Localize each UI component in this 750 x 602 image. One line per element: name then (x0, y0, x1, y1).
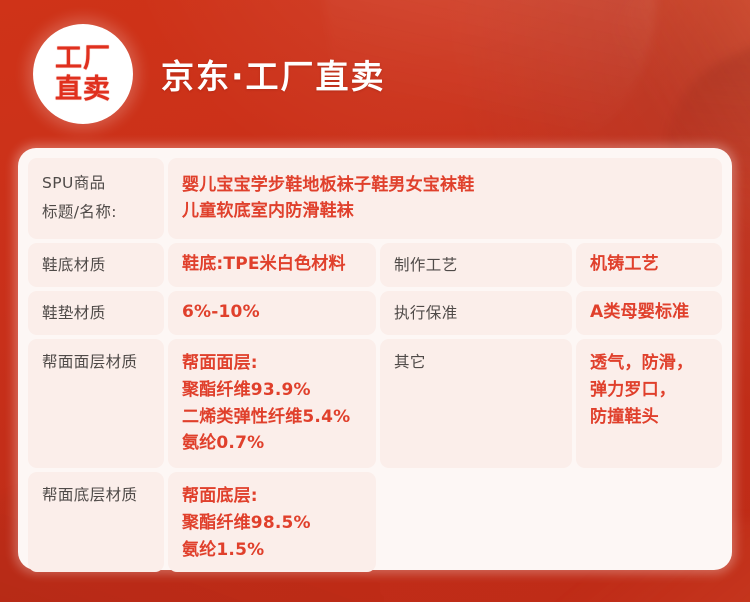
product-spec-card: SPU商品 标题/名称: 婴儿宝宝学步鞋地板袜子鞋男女宝袜鞋 儿童软底室内防滑鞋… (18, 148, 732, 570)
spec-label-upper-bottom-material-text: 帮面底层材质 (42, 483, 150, 507)
spec-row-upper-bottom-material: 帮面底层材质 帮面底层: 聚酯纤维98.5% 氨纶1.5% (28, 472, 722, 572)
spec-value-others: 透气，防滑， 弹力罗口， 防撞鞋头 (576, 339, 722, 468)
spec-value-sole-material-text: 鞋底:TPE米白色材料 (182, 251, 362, 278)
spec-value-insole-material-text: 6%-10% (182, 299, 362, 326)
spec-label-spu-title-line2: 标题/名称: (42, 198, 150, 227)
spec-label-production-craft-text: 制作工艺 (394, 253, 558, 277)
page-root: 工厂 直卖 京东·工厂直卖 SPU商品 标题/名称: 婴儿宝宝学步鞋地板袜子鞋男… (0, 0, 750, 602)
spec-value-upper-face-line1: 帮面面层: (182, 350, 362, 377)
spec-value-production-craft-text: 机铸工艺 (590, 251, 708, 278)
factory-direct-sale-logo: 工厂 直卖 (33, 24, 133, 124)
spec-row-spu-title: SPU商品 标题/名称: 婴儿宝宝学步鞋地板袜子鞋男女宝袜鞋 儿童软底室内防滑鞋… (28, 158, 722, 239)
spec-value-upper-face-line2: 聚酯纤维93.9% (182, 377, 362, 404)
spec-value-production-craft: 机铸工艺 (576, 243, 722, 287)
spec-label-insole-material-text: 鞋垫材质 (42, 301, 150, 325)
spec-value-upper-face-line4: 氨纶0.7% (182, 430, 362, 457)
spec-value-insole-material: 6%-10% (168, 291, 376, 335)
spec-label-upper-bottom-material: 帮面底层材质 (28, 472, 164, 572)
spec-label-production-craft: 制作工艺 (380, 243, 572, 287)
spec-label-others: 其它 (380, 339, 572, 468)
banner-header: 工厂 直卖 京东·工厂直卖 (0, 0, 750, 148)
spec-row-upper-face-material: 帮面面层材质 帮面面层: 聚酯纤维93.9% 二烯类弹性纤维5.4% 氨纶0.7… (28, 339, 722, 468)
spec-value-others-line3: 防撞鞋头 (590, 404, 708, 431)
spec-label-execution-standard-text: 执行保准 (394, 301, 558, 325)
spec-value-spu-title-line1: 婴儿宝宝学步鞋地板袜子鞋男女宝袜鞋 (182, 172, 708, 199)
spec-label-spu-title-line1: SPU商品 (42, 169, 150, 198)
spec-value-others-line2: 弹力罗口， (590, 377, 708, 404)
brand-title: 京东·工厂直卖 (161, 50, 386, 98)
spec-label-upper-face-material: 帮面面层材质 (28, 339, 164, 468)
logo-line-one: 工厂 (55, 45, 111, 72)
logo-line-two: 直卖 (55, 76, 111, 103)
spec-value-upper-face-material: 帮面面层: 聚酯纤维93.9% 二烯类弹性纤维5.4% 氨纶0.7% (168, 339, 376, 468)
spec-label-sole-material-text: 鞋底材质 (42, 253, 150, 277)
spec-value-spu-title: 婴儿宝宝学步鞋地板袜子鞋男女宝袜鞋 儿童软底室内防滑鞋袜 (168, 158, 722, 239)
spec-value-upper-bottom-line2: 聚酯纤维98.5% (182, 510, 362, 537)
spec-row-insole-material: 鞋垫材质 6%-10% 执行保准 A类母婴标准 (28, 291, 722, 335)
spec-value-others-line1: 透气，防滑， (590, 350, 708, 377)
spec-value-execution-standard: A类母婴标准 (576, 291, 722, 335)
spec-row-sole-material: 鞋底材质 鞋底:TPE米白色材料 制作工艺 机铸工艺 (28, 243, 722, 287)
spec-value-sole-material: 鞋底:TPE米白色材料 (168, 243, 376, 287)
spec-value-upper-bottom-line3: 氨纶1.5% (182, 537, 362, 564)
spec-value-upper-bottom-line1: 帮面底层: (182, 483, 362, 510)
spec-value-spu-title-line2: 儿童软底室内防滑鞋袜 (182, 198, 708, 225)
spec-value-upper-face-line3: 二烯类弹性纤维5.4% (182, 404, 362, 431)
spec-label-upper-face-material-text: 帮面面层材质 (42, 350, 150, 374)
spec-label-others-text: 其它 (394, 350, 558, 374)
spec-label-sole-material: 鞋底材质 (28, 243, 164, 287)
spec-value-execution-standard-text: A类母婴标准 (590, 299, 708, 326)
spec-label-insole-material: 鞋垫材质 (28, 291, 164, 335)
spec-label-execution-standard: 执行保准 (380, 291, 572, 335)
spec-label-spu-title: SPU商品 标题/名称: (28, 158, 164, 239)
spec-value-upper-bottom-material: 帮面底层: 聚酯纤维98.5% 氨纶1.5% (168, 472, 376, 572)
